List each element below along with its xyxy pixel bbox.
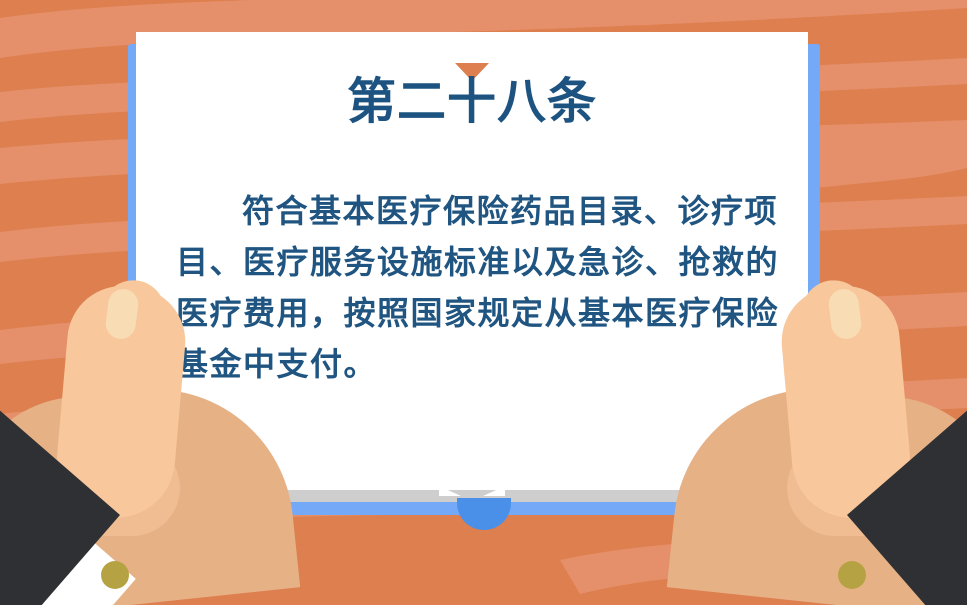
left-cuff-button	[101, 561, 129, 589]
body-line-1: 符合基本医疗保险药品目录、诊疗项	[176, 186, 770, 237]
page-body-text: 符合基本医疗保险药品目录、诊疗项 目、医疗服务设施标准以及急诊、抢救的 医疗费用…	[176, 186, 770, 390]
page-title: 第二十八条	[136, 74, 808, 130]
poster-canvas: 第二十八条 符合基本医疗保险药品目录、诊疗项 目、医疗服务设施标准以及急诊、抢救…	[0, 0, 967, 605]
book-bookmark-tab	[457, 498, 511, 530]
body-line-2: 目、医疗服务设施标准以及急诊、抢救的	[176, 237, 770, 288]
right-cuff-button	[838, 561, 866, 589]
body-line-3: 医疗费用，按照国家规定从基本医疗保险	[176, 288, 770, 339]
body-line-4: 基金中支付。	[176, 339, 770, 390]
